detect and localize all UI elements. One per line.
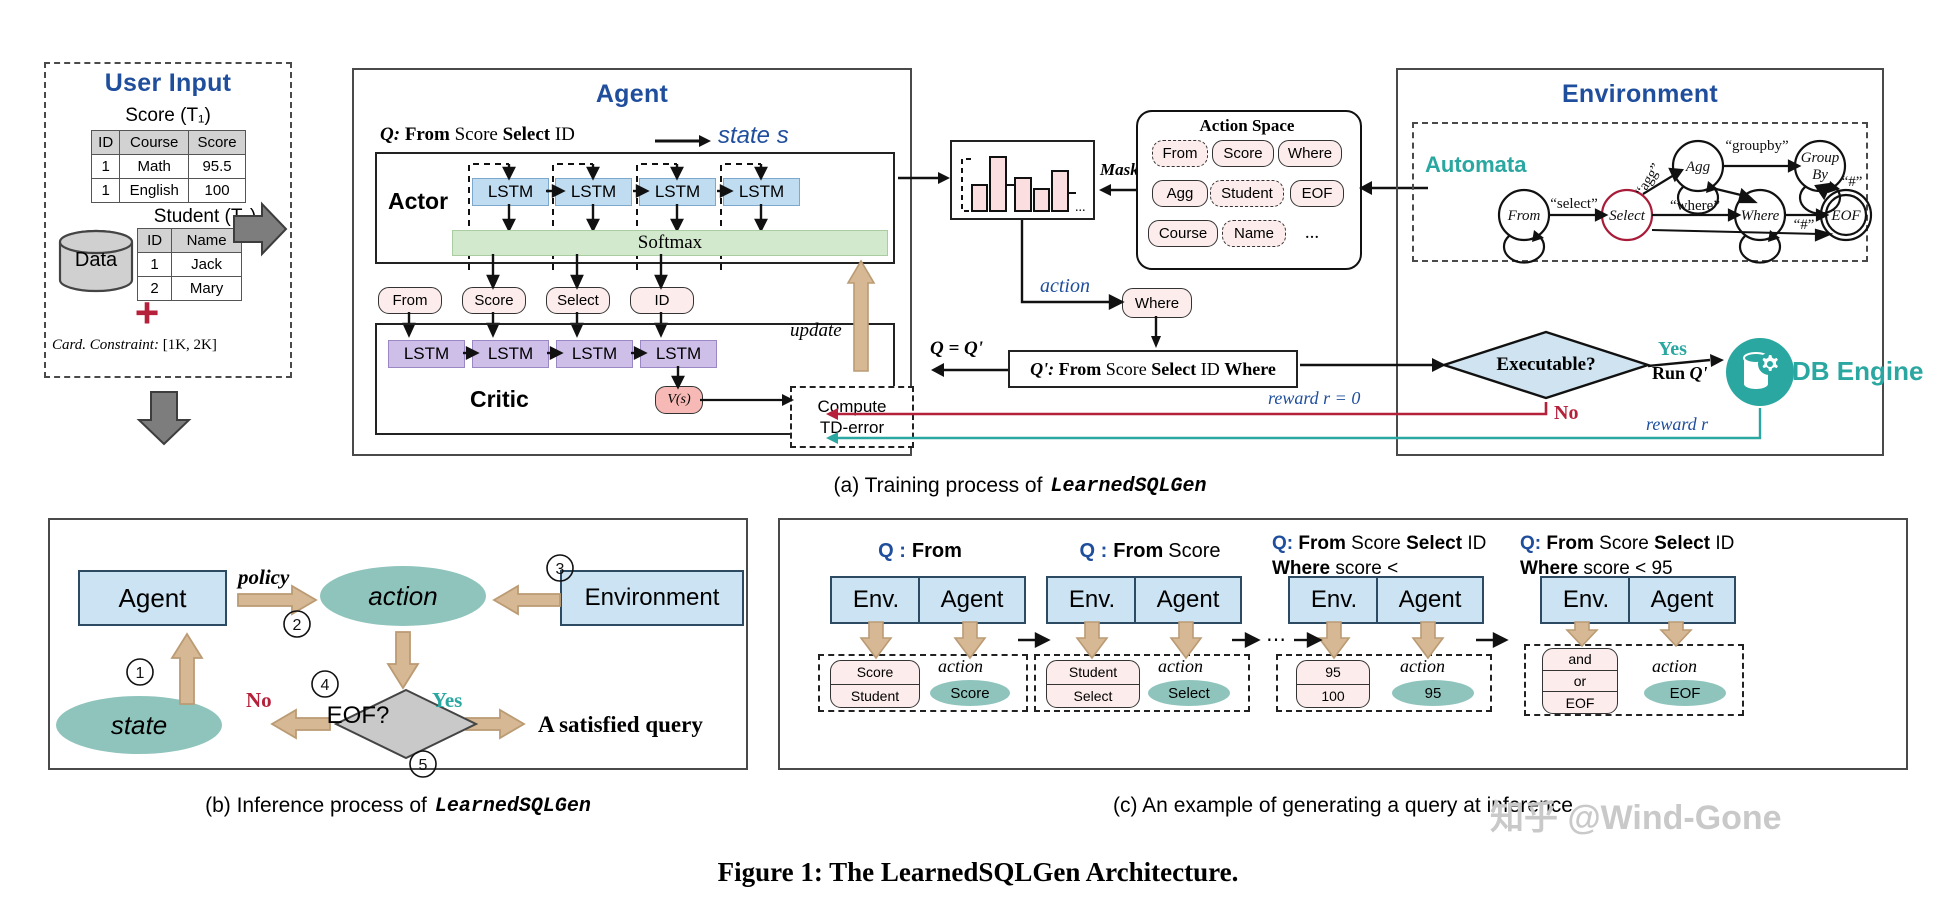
action-space-item-name[interactable]: Name bbox=[1222, 220, 1286, 247]
col-header: Course bbox=[120, 131, 189, 155]
svg-text:3: 3 bbox=[556, 561, 565, 578]
qprime-token: ID bbox=[1201, 359, 1220, 379]
panel-c-ellipsis: ⋯ bbox=[1266, 629, 1286, 651]
qprime-token: From bbox=[1059, 359, 1102, 379]
automata-state-groupby-1: Group bbox=[1801, 150, 1840, 166]
svg-text:2: 2 bbox=[293, 617, 302, 634]
state-to-histogram-arrow bbox=[898, 170, 952, 186]
col-header: Score bbox=[189, 131, 246, 155]
query-token: Score bbox=[455, 124, 498, 145]
table-row: 1 English 100 bbox=[92, 179, 246, 203]
watermark: 知乎 @Wind-Gone bbox=[1490, 790, 1782, 839]
table-row: 1 Jack bbox=[138, 253, 242, 277]
svg-text:5: 5 bbox=[419, 757, 428, 774]
query-prefix: Q: bbox=[380, 124, 400, 145]
caption-b-name: LearnedSQLGen bbox=[435, 795, 591, 818]
plus-icon: + bbox=[130, 296, 164, 330]
col-header: ID bbox=[138, 229, 172, 253]
action-space-item-where[interactable]: Where bbox=[1278, 140, 1342, 167]
action-space-item-student[interactable]: Student bbox=[1210, 180, 1284, 207]
caption-a: (a) Training process of LearnedSQLGen bbox=[700, 470, 1340, 502]
automata-state-agg: Agg bbox=[1685, 159, 1711, 175]
qprime-prefix: Q': bbox=[1030, 359, 1054, 379]
query-to-state-arrow-icon bbox=[655, 134, 713, 148]
query-token: From bbox=[405, 124, 450, 145]
constraint-text: Card. Constraint: bbox=[52, 337, 159, 353]
action-space-title: Action Space bbox=[1136, 114, 1358, 138]
agent-query-line: Q: From Score Select ID bbox=[380, 124, 880, 152]
query-token: Select bbox=[503, 124, 550, 145]
data-label: Data bbox=[56, 240, 136, 280]
mask-label: Mask bbox=[1100, 160, 1139, 180]
figure-caption: Figure 1: The LearnedSQLGen Architecture… bbox=[0, 852, 1956, 892]
score-table-caption: Score (T₁) bbox=[44, 103, 292, 129]
qprime-token: Score bbox=[1106, 359, 1147, 379]
automata-state-from: From bbox=[1507, 208, 1541, 224]
action-space-item-course[interactable]: Course bbox=[1148, 220, 1218, 247]
automata-state-select: Select bbox=[1609, 208, 1646, 224]
vs-to-td-arrow bbox=[700, 392, 796, 408]
db-engine-label: DB Engine bbox=[1792, 356, 1923, 387]
softmax-bar: Softmax bbox=[452, 230, 888, 256]
environment-title: Environment bbox=[1396, 78, 1884, 110]
caption-b-prefix: (b) Inference process of bbox=[205, 794, 427, 818]
panel-b-satisfied-label: A satisfied query bbox=[538, 712, 703, 738]
automata-state-where: Where bbox=[1741, 208, 1780, 224]
constraint-value: [1K, 2K] bbox=[163, 337, 217, 353]
action-space-more: ... bbox=[1292, 220, 1332, 245]
qprime-to-td-arrow bbox=[930, 362, 1010, 378]
action-space-item-from[interactable]: From bbox=[1152, 140, 1208, 167]
caption-b: (b) Inference process of LearnedSQLGen bbox=[48, 790, 748, 822]
automata-edge-hash-1: “#” bbox=[1794, 217, 1815, 233]
actor-to-state-path bbox=[880, 170, 906, 288]
update-arrow-icon bbox=[850, 255, 872, 373]
update-label: update bbox=[790, 320, 842, 342]
qprime-to-executable-arrow bbox=[1300, 357, 1448, 373]
automata-state-groupby-2: By bbox=[1812, 167, 1828, 183]
executable-label: Executable? bbox=[1442, 330, 1650, 400]
user-input-title: User Input bbox=[44, 68, 292, 98]
automata-edge-hash-2: “#” bbox=[1842, 174, 1863, 190]
agent-title: Agent bbox=[352, 78, 912, 110]
svg-text:4: 4 bbox=[321, 677, 330, 694]
panel-b-eof-label: EOF? bbox=[288, 696, 428, 736]
qprime-box: Q': From Score Select ID Where bbox=[1008, 350, 1298, 388]
panel-b-no-label: No bbox=[246, 688, 272, 713]
yes-branch-arrow bbox=[1648, 352, 1732, 374]
card-constraint-label: Card. Constraint: [1K, 2K] bbox=[52, 337, 288, 354]
histogram-ellipsis: ... bbox=[1075, 200, 1086, 215]
q-equals-label: Q = Q' bbox=[930, 338, 983, 360]
action-space-item-agg[interactable]: Agg bbox=[1152, 180, 1208, 207]
automata-edge-agg: “agg” bbox=[1633, 161, 1665, 199]
caption-a-name: LearnedSQLGen bbox=[1050, 475, 1206, 498]
svg-text:1: 1 bbox=[136, 665, 145, 682]
grey-arrow-down-icon bbox=[135, 390, 193, 446]
grey-arrow-right-icon bbox=[232, 200, 288, 258]
panel-c-connectors: ⋯ bbox=[778, 518, 1908, 770]
automata-edge-groupby: “groupby” bbox=[1725, 138, 1788, 154]
state-label: state s bbox=[718, 122, 789, 150]
automata-edge-where: “where” bbox=[1670, 198, 1720, 214]
probability-histogram: ... bbox=[955, 145, 1090, 215]
automata-state-eof: EOF bbox=[1830, 208, 1861, 224]
action-space-item-eof[interactable]: EOF bbox=[1290, 180, 1344, 207]
panel-b-yes-label: Yes bbox=[432, 688, 462, 713]
qprime-token: Select bbox=[1151, 359, 1196, 379]
qprime-token: Where bbox=[1224, 359, 1276, 379]
action-space-item-score[interactable]: Score bbox=[1212, 140, 1274, 167]
automata-graph: From Select Agg Where Group By EOF “sele… bbox=[1412, 122, 1868, 262]
col-header: ID bbox=[92, 131, 120, 155]
automata-edge-select: “select” bbox=[1550, 196, 1597, 212]
caption-a-prefix: (a) Training process of bbox=[834, 474, 1043, 498]
table-row: 1 Math 95.5 bbox=[92, 155, 246, 179]
query-token: ID bbox=[555, 124, 575, 145]
score-table: ID Course Score 1 Math 95.5 1 English 10… bbox=[91, 130, 246, 203]
db-engine-icon bbox=[1724, 336, 1796, 408]
reward-r-arrow bbox=[820, 408, 1770, 448]
action-to-query-arrow bbox=[1150, 316, 1166, 350]
